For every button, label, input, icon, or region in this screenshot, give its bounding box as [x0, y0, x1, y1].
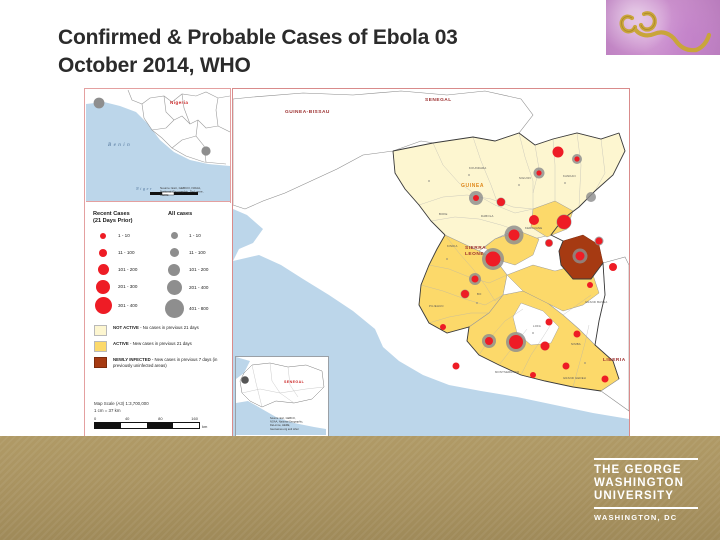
- label-guinea-bissau: GUINEA-BISSAU: [285, 109, 330, 115]
- gw-university-logo: THE GEORGE WASHINGTON UNIVERSITY WASHING…: [594, 458, 698, 522]
- legend-swatch-circle-grey: [164, 264, 184, 276]
- legend-category-text: NEWLY INFECTED - New cases in previous 7…: [113, 357, 225, 369]
- legend-label: 101 - 200: [118, 267, 137, 272]
- legend-label: 11 - 100: [118, 250, 135, 255]
- svg-text:KINDIA: KINDIA: [447, 244, 458, 248]
- legend-swatch-circle-red: [93, 233, 113, 239]
- svg-text:BOKE: BOKE: [439, 212, 448, 216]
- legend-category-rest: - New cases in previous 21 days: [129, 341, 192, 346]
- svg-text:Nigeria: Nigeria: [170, 100, 188, 105]
- legend-item: 201 - 300: [93, 278, 154, 295]
- logo-rule-top: [594, 458, 698, 460]
- svg-text:DeLorme, HERE,: DeLorme, HERE,: [270, 423, 290, 427]
- map-scale-tick: 0: [94, 416, 96, 421]
- legend-all-cases: All cases 1 - 10 11 - 100 101 - 200: [164, 211, 225, 319]
- legend-swatch-circle-grey: [164, 280, 184, 295]
- svg-text:KANKAN: KANKAN: [563, 174, 576, 178]
- svg-text:Geonames.org and other: Geonames.org and other: [270, 427, 299, 431]
- legend-label: 101 - 200: [189, 267, 208, 272]
- page-title-line-1: Confirmed & Probable Cases of Ebola 03: [58, 24, 578, 52]
- svg-text:GRAND BASSA: GRAND BASSA: [585, 300, 607, 304]
- legend-item: 401 - 800: [164, 297, 225, 319]
- svg-text:MONTSERRADO: MONTSERRADO: [495, 370, 520, 374]
- legend-category-newly-infected: NEWLY INFECTED - New cases in previous 7…: [94, 357, 225, 369]
- legend-item: 201 - 400: [164, 278, 225, 297]
- legend-category-bold: ACTIVE: [113, 341, 129, 346]
- legend-item: 301 - 400: [93, 295, 154, 315]
- svg-text:DABOLA: DABOLA: [481, 214, 494, 218]
- legend-swatch-not-active: [94, 325, 107, 336]
- legend-swatch-circle-red: [93, 249, 113, 257]
- map-scale-tick: 160: [191, 416, 198, 421]
- logo-line-2: WASHINGTON: [594, 477, 698, 490]
- legend-item: 101 - 200: [164, 261, 225, 278]
- legend-swatch-newly-infected: [94, 357, 107, 368]
- legend-category-rest: - No cases in previous 21 days: [139, 325, 199, 330]
- bottom-banner: THE GEORGE WASHINGTON UNIVERSITY WASHING…: [0, 436, 720, 540]
- svg-text:HERE: HERE: [160, 193, 169, 197]
- svg-text:Source: Esri, GEBCO,: Source: Esri, GEBCO,: [270, 416, 296, 420]
- legend-swatch-circle-red: [93, 280, 113, 294]
- svg-text:NIMBA: NIMBA: [571, 342, 581, 346]
- legend-label: 201 - 300: [118, 284, 137, 289]
- svg-text:Niger: Niger: [135, 186, 153, 191]
- map-scale-unit: km: [202, 424, 207, 429]
- map-scale-tick: 80: [158, 416, 162, 421]
- legend-swatch-circle-grey: [164, 248, 184, 257]
- map-scale-bar: Map Scale (A3) 1:3,700,000 1 cm = 37 km …: [85, 395, 231, 438]
- svg-text:BO: BO: [477, 292, 482, 296]
- label-guinea: GUINEA: [461, 183, 484, 189]
- svg-text:KEROUANE: KEROUANE: [525, 226, 542, 230]
- legend-label: 11 - 100: [189, 250, 206, 255]
- legend-item: 11 - 100: [164, 244, 225, 261]
- logo-line-3: UNIVERSITY: [594, 490, 698, 503]
- map-scale-line-2: 1 cm = 37 km: [94, 408, 231, 415]
- legend-all-title: All cases: [168, 211, 225, 218]
- svg-text:LOFA: LOFA: [533, 324, 541, 328]
- label-sierra-leone: SIERRA: [465, 245, 486, 251]
- page-title: Confirmed & Probable Cases of Ebola 03 O…: [58, 24, 578, 79]
- legend-swatch-circle-red: [93, 264, 113, 275]
- legend-category-not-active: NOT ACTIVE - No cases in previous 21 day…: [94, 325, 225, 336]
- legend-swatch-circle-red: [93, 297, 113, 314]
- legend-swatch-circle-grey: [164, 299, 184, 318]
- legend-label: 401 - 800: [189, 306, 208, 311]
- legend-category-text: ACTIVE - New cases in previous 21 days: [113, 341, 192, 347]
- page-title-line-2: October 2014, WHO: [58, 52, 578, 80]
- legend-label: 1 - 10: [118, 233, 130, 238]
- map-main-panel: GUINEA-BISSAU SENEGAL MALI GUINEA SIERRA…: [232, 88, 630, 438]
- map-scale-tick: 40: [125, 416, 129, 421]
- inset-map-senegal: SENEGAL Source: Esri, GEBCO, NOAA, Natio…: [235, 356, 329, 438]
- legend-item: 1 - 10: [93, 227, 154, 244]
- logo-rule-bottom: [594, 507, 698, 509]
- legend-item: 1 - 10: [164, 227, 225, 244]
- legend-category-bold: NEWLY INFECTED: [113, 357, 151, 362]
- logo-subtitle: WASHINGTON, DC: [594, 513, 698, 522]
- label-liberia: LIBERIA: [603, 357, 626, 363]
- svg-text:SENEGAL: SENEGAL: [284, 380, 305, 384]
- legend-swatch-circle-grey: [164, 232, 184, 239]
- map-scale-ticks: 0 40 80 160: [94, 416, 198, 421]
- ebola-virion-micrograph: [606, 0, 720, 55]
- map-left-panel: Nigeria Benin Niger Source: Esri, GEBCO,…: [84, 88, 231, 438]
- legend-label: 201 - 400: [189, 285, 208, 290]
- map-scale-bar-graphic: [94, 422, 200, 429]
- legend-category-active: ACTIVE - New cases in previous 21 days: [94, 341, 225, 352]
- label-sierra-leone-2: LEONE: [465, 251, 484, 257]
- who-ebola-map: Nigeria Benin Niger Source: Esri, GEBCO,…: [84, 88, 630, 438]
- svg-text:Benin: Benin: [108, 142, 132, 148]
- svg-text:SIGUIRI: SIGUIRI: [519, 176, 531, 180]
- legend-item: 11 - 100: [93, 244, 154, 261]
- legend-item: 101 - 200: [93, 261, 154, 278]
- legend-label: 301 - 400: [118, 303, 137, 308]
- legend-label: 1 - 10: [189, 233, 201, 238]
- inset-map-nigeria: Nigeria Benin Niger Source: Esri, GEBCO,…: [86, 90, 230, 202]
- svg-text:PUJEHUN: PUJEHUN: [429, 304, 444, 308]
- svg-text:NOAA, National Geographic,: NOAA, National Geographic,: [270, 420, 303, 424]
- legend-category-bold: NOT ACTIVE: [113, 325, 139, 330]
- map-legend: Recent Cases (21 Days Prior) 1 - 10 11 -…: [85, 203, 231, 397]
- legend-recent-cases: Recent Cases (21 Days Prior) 1 - 10 11 -…: [93, 211, 154, 319]
- legend-status-categories: NOT ACTIVE - No cases in previous 21 day…: [85, 319, 231, 369]
- legend-category-text: NOT ACTIVE - No cases in previous 21 day…: [113, 325, 199, 331]
- legend-recent-title-line1: Recent Cases: [93, 211, 154, 218]
- label-senegal: SENEGAL: [425, 97, 452, 103]
- legend-recent-title-line2: (21 Days Prior): [93, 218, 154, 225]
- legend-swatch-active: [94, 341, 107, 352]
- logo-line-1: THE GEORGE: [594, 464, 698, 477]
- svg-text:GRAND GEDEH: GRAND GEDEH: [563, 376, 586, 380]
- svg-text:KOUNDARA: KOUNDARA: [469, 166, 486, 170]
- map-scale-line-1: Map Scale (A3) 1:3,700,000: [94, 401, 231, 408]
